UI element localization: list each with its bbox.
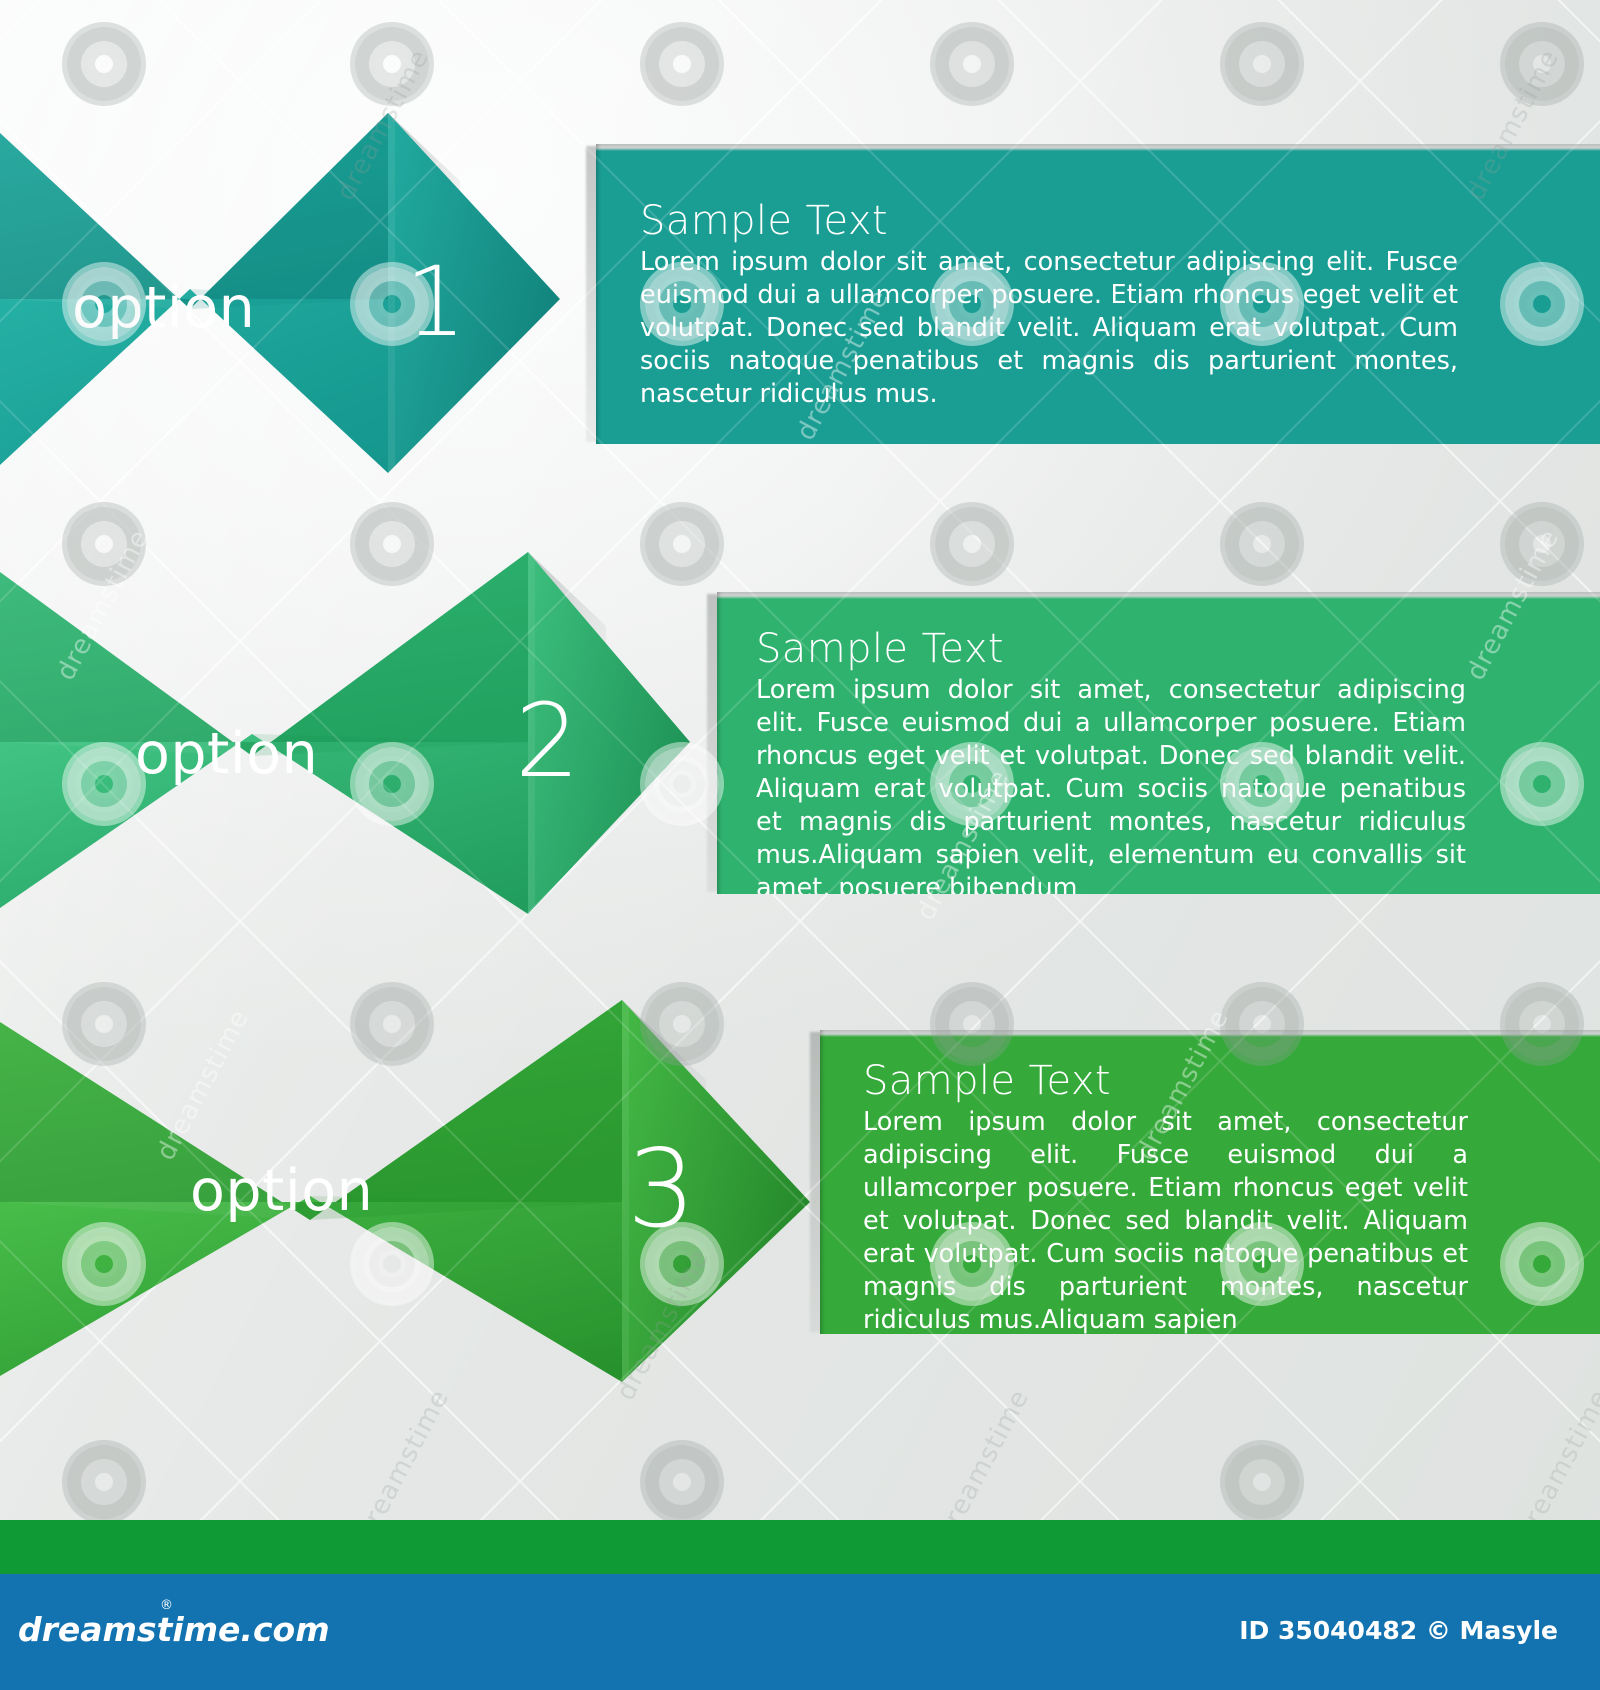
registered-mark-icon: ® <box>160 1598 173 1613</box>
infographic-canvas: option 1 Sample Text Lorem ipsum dolor s… <box>0 0 1600 1690</box>
footer-bar: dreamstime.com ® ID 35040482 © Masyle <box>0 1574 1600 1690</box>
image-credit: ID 35040482 © Masyle <box>1239 1616 1558 1645</box>
watermark-grid-lines-overlay <box>0 0 1600 1520</box>
footer-green-strip <box>0 1520 1600 1574</box>
dreamstime-logo[interactable]: dreamstime.com <box>18 1610 330 1649</box>
